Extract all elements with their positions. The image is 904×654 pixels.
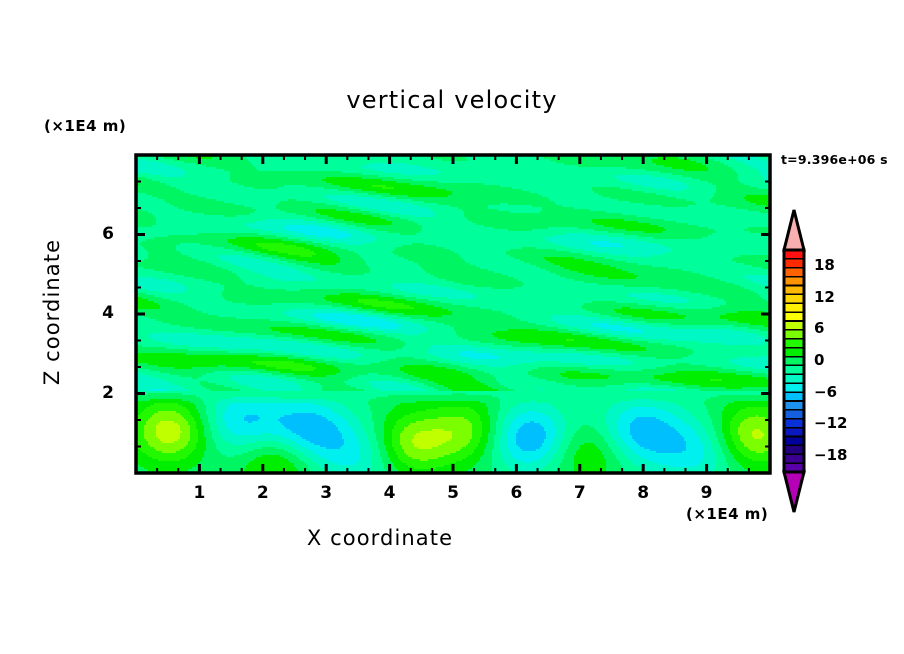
x-tick-label-4: 5 bbox=[433, 483, 473, 503]
colorbar-tick-label-2: 6 bbox=[814, 319, 824, 337]
x-tick-label-0: 1 bbox=[179, 483, 219, 503]
x-tick-label-5: 6 bbox=[496, 483, 536, 503]
x-tick-label-8: 9 bbox=[687, 483, 727, 503]
y-tick-label-1: 4 bbox=[94, 303, 122, 323]
y-tick-label-0: 2 bbox=[94, 383, 122, 403]
colorbar-tick-label-0: 18 bbox=[814, 256, 835, 274]
colorbar-tick-label-3: 0 bbox=[814, 351, 824, 369]
colorbar-tick-label-6: −18 bbox=[814, 446, 847, 464]
colorbar-tick-label-1: 12 bbox=[814, 288, 835, 306]
x-tick-label-7: 8 bbox=[623, 483, 663, 503]
colorbar-tick-label-5: −12 bbox=[814, 414, 847, 432]
x-tick-label-1: 2 bbox=[243, 483, 283, 503]
contour-plot bbox=[0, 0, 904, 654]
x-tick-label-6: 7 bbox=[560, 483, 600, 503]
x-tick-label-3: 4 bbox=[370, 483, 410, 503]
colorbar-tick-label-4: −6 bbox=[814, 383, 837, 401]
y-tick-label-2: 6 bbox=[94, 224, 122, 244]
x-tick-label-2: 3 bbox=[306, 483, 346, 503]
